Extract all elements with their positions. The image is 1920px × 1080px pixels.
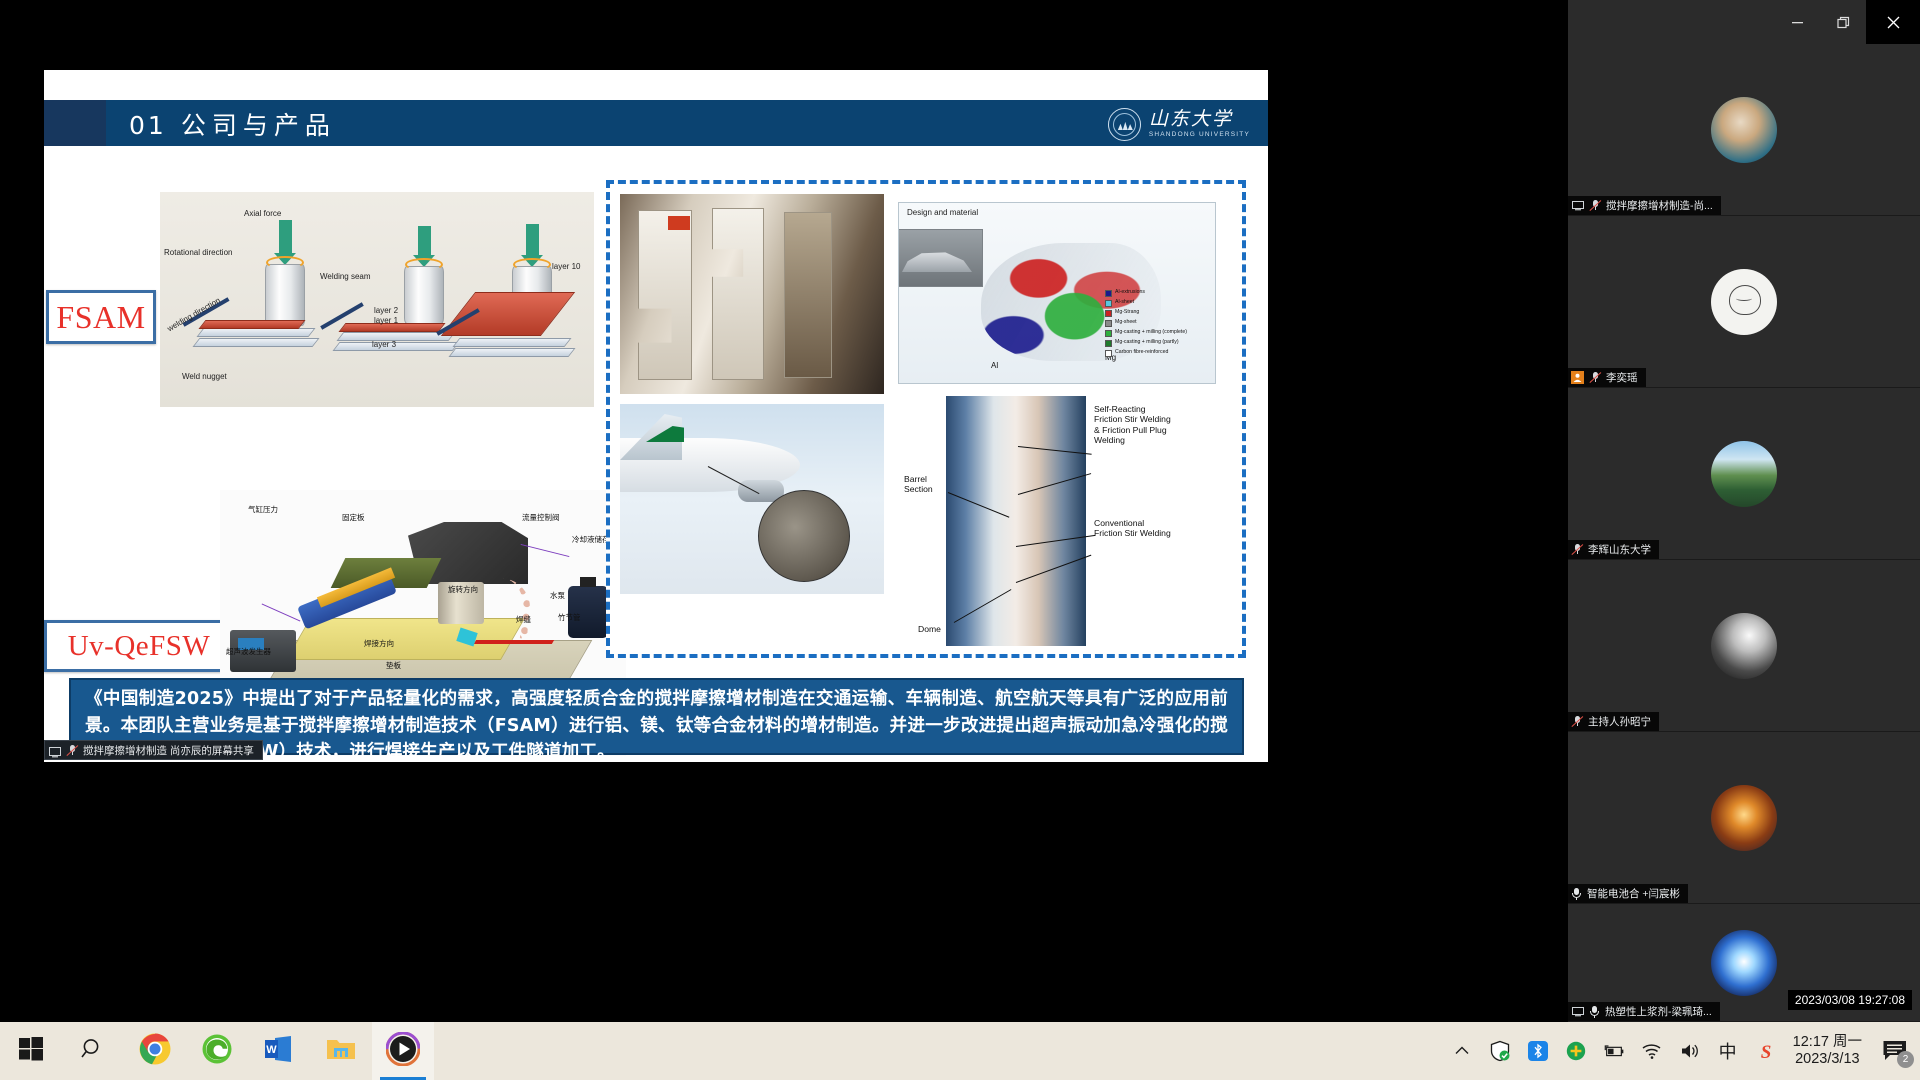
- share-bar-label: 搅拌摩擦增材制造 尚亦辰的屏幕共享: [83, 743, 254, 758]
- participant-nametag: 智能电池合 +闫宸彬: [1568, 884, 1688, 903]
- label-layer-2: layer 2: [374, 306, 398, 315]
- rocket-label-conventional: Conventional Friction Stir Welding: [1094, 518, 1171, 539]
- participant-tile[interactable]: 李辉山东大学: [1568, 388, 1920, 560]
- participant-nametag: 李奕瑶: [1568, 368, 1646, 387]
- fsam-badge: FSAM: [46, 290, 156, 344]
- label-layer-3: layer 3: [372, 340, 396, 349]
- participant-tile[interactable]: 李奕瑶: [1568, 216, 1920, 388]
- fsam-substrate-3: [448, 348, 575, 357]
- label-rotational-direction: Rotational direction: [164, 248, 232, 257]
- participant-tile[interactable]: 主持人孙昭宁: [1568, 560, 1920, 732]
- car-material-legend: Al-extrusions Al-sheet Mg-Strang Mg-shee…: [1105, 289, 1211, 359]
- label-layer-1: layer 1: [374, 316, 398, 325]
- legend-label: Al-sheet: [1115, 299, 1134, 306]
- rk-l7: Section: [904, 484, 933, 494]
- legend-label: Mg-sheet: [1115, 319, 1137, 326]
- edge-icon: [201, 1033, 233, 1070]
- bluetooth-icon[interactable]: [1527, 1040, 1549, 1062]
- legend-swatch: [1105, 320, 1112, 327]
- rocket-tank-diagram: Self-Reacting Friction Stir Welding & Fr…: [898, 396, 1216, 646]
- participant-name: 搅拌摩擦增材制造-尚...: [1606, 198, 1713, 213]
- explorer-button[interactable]: [310, 1022, 372, 1080]
- label-ultrasonic-generator: 超声波发生器: [226, 646, 271, 657]
- avatar: [1711, 97, 1777, 163]
- label-welding-seam: Welding seam: [320, 272, 371, 281]
- close-button[interactable]: [1866, 0, 1920, 44]
- chrome-icon: [138, 1032, 172, 1071]
- rk-l6: Barrel: [904, 474, 927, 484]
- volume-icon[interactable]: [1679, 1040, 1701, 1062]
- rk-l2: & Friction Pull Plug: [1094, 425, 1167, 435]
- show-hidden-icons-button[interactable]: [1451, 1040, 1473, 1062]
- fsam-badge-label: FSAM: [56, 299, 145, 336]
- notification-count: 2: [1897, 1051, 1914, 1068]
- university-seal-icon: [1108, 108, 1141, 141]
- taskbar-clock[interactable]: 12:17 周一 2023/3/13: [1793, 1034, 1862, 1068]
- rk-l0: Self-Reacting: [1094, 404, 1146, 414]
- screen-share-icon: [1571, 199, 1584, 212]
- restore-button[interactable]: [1820, 0, 1866, 44]
- media-player-button[interactable]: [372, 1022, 434, 1080]
- clock-date: 2023/3/13: [1793, 1051, 1862, 1068]
- rk-l5: Friction Stir Welding: [1094, 528, 1171, 538]
- legend-item: Al-extrusions: [1105, 289, 1211, 297]
- uv-weld-seam: [474, 640, 554, 644]
- legend-item: Carbon fibre-reinforced: [1105, 349, 1211, 357]
- participants-rail: 搅拌摩擦增材制造-尚... 李奕瑶 李辉山东大学: [1568, 0, 1920, 1022]
- label-axial-force: Axial force: [244, 209, 281, 218]
- microphone-muted-icon: [66, 744, 78, 757]
- screen-share-status-bar[interactable]: 搅拌摩擦增材制造 尚亦辰的屏幕共享: [44, 740, 263, 760]
- microphone-icon: [1571, 887, 1582, 900]
- rk-l3: Welding: [1094, 435, 1125, 445]
- label-water-pump: 水泵: [550, 590, 565, 601]
- window-controls: [1568, 0, 1920, 44]
- clock-time: 12:17 周一: [1793, 1034, 1862, 1051]
- battery-icon[interactable]: [1603, 1040, 1625, 1062]
- folder-icon: [325, 1035, 357, 1068]
- label-rotation-direction: 旋转方向: [448, 584, 478, 595]
- university-name-cn: 山东大学: [1149, 110, 1250, 129]
- weld-detail-callout: [758, 490, 850, 582]
- label-welding-direction: 焊接方向: [364, 638, 394, 649]
- participant-nametag: 主持人孙昭宁: [1568, 712, 1659, 731]
- svg-text:W: W: [266, 1044, 277, 1056]
- minimize-button[interactable]: [1774, 0, 1820, 44]
- chinese-ime-icon[interactable]: 中: [1717, 1040, 1739, 1062]
- rotation-ring-3: [513, 258, 551, 271]
- legend-item: Mg-casting + milling (complete): [1105, 329, 1211, 337]
- word-button[interactable]: W: [248, 1022, 310, 1080]
- aircraft-photo: [620, 404, 884, 594]
- legend-label: Mg-Strang: [1115, 309, 1139, 316]
- rk-l1: Friction Stir Welding: [1094, 414, 1171, 424]
- rocket-label-barrel: Barrel Section: [904, 474, 933, 495]
- screen-share-area: 01公司与产品 山东大学 SHANDONG UNIVERSITY FSAM Uv…: [0, 0, 1568, 1022]
- rk-l4: Conventional: [1094, 518, 1144, 528]
- fsam-base-plate-1: [196, 328, 315, 337]
- label-layer-10: layer 10: [552, 262, 580, 271]
- microphone-muted-icon: [1589, 199, 1601, 212]
- notification-center-button[interactable]: 2: [1878, 1036, 1912, 1066]
- update-icon[interactable]: [1565, 1040, 1587, 1062]
- avatar: [1711, 269, 1777, 335]
- label-weld-nugget: Weld nugget: [182, 372, 227, 381]
- legend-label: Mg-casting + milling (complete): [1115, 329, 1187, 336]
- university-name-en: SHANDONG UNIVERSITY: [1149, 132, 1250, 139]
- fsam-stack-3: [441, 292, 575, 336]
- rotation-ring-1: [266, 256, 304, 269]
- taskbar: W: [0, 1022, 1920, 1080]
- wifi-icon[interactable]: [1641, 1040, 1663, 1062]
- participant-name: 李奕瑶: [1606, 370, 1638, 385]
- section-number: 01: [129, 111, 167, 140]
- slide-header-accent: [44, 100, 106, 146]
- rocket-label-dome: Dome: [918, 624, 941, 634]
- legend-item: Mg-Strang: [1105, 309, 1211, 317]
- participant-tile[interactable]: 智能电池合 +闫宸彬: [1568, 732, 1920, 904]
- avatar: [1711, 930, 1777, 996]
- legend-swatch: [1105, 310, 1112, 317]
- label-cylinder-pressure: 气缸压力: [248, 504, 278, 515]
- label-fixed-plate: 固定板: [342, 512, 365, 523]
- start-button[interactable]: [0, 1022, 62, 1080]
- legend-item: Mg-casting + milling (partly): [1105, 339, 1211, 347]
- legend-label: Al-extrusions: [1115, 289, 1145, 296]
- participant-name: 李辉山东大学: [1588, 542, 1651, 557]
- legend-item: Mg-sheet: [1105, 319, 1211, 327]
- car-body-material-diagram: Design and material Al Mg Al-extrusions …: [898, 202, 1216, 384]
- extrusion-samples-photo: [620, 194, 884, 394]
- extrusion-profile-1: [638, 210, 692, 380]
- legend-swatch: [1105, 340, 1112, 347]
- label-bamboo-hose: 竹节管: [558, 612, 581, 623]
- rotation-ring-2: [405, 258, 443, 271]
- chrome-button[interactable]: [124, 1022, 186, 1080]
- recording-timestamp: 2023/03/08 19:27:08: [1788, 990, 1912, 1010]
- windows-icon: [18, 1036, 44, 1067]
- sogou-icon[interactable]: S: [1755, 1040, 1777, 1062]
- rocket-label-self-reacting: Self-Reacting Friction Stir Welding & Fr…: [1094, 404, 1171, 446]
- extrusion-label-tag: [668, 216, 690, 230]
- uvqefsw-badge: Uv-QeFSW: [44, 620, 234, 672]
- legend-swatch: [1105, 300, 1112, 307]
- screen-share-icon: [49, 745, 61, 756]
- legend-swatch: [1105, 330, 1112, 337]
- fsam-tool-1: [265, 264, 305, 326]
- participant-name: 主持人孙昭宁: [1588, 714, 1651, 729]
- uvqefsw-badge-label: Uv-QeFSW: [68, 630, 211, 663]
- label-flow-control-valve: 流量控制阀: [522, 512, 560, 523]
- legend-item: Al-sheet: [1105, 299, 1211, 307]
- application-image-collage: Design and material Al Mg Al-extrusions …: [606, 180, 1246, 658]
- microphone-muted-icon: [1589, 371, 1601, 384]
- fsam-substrate-1: [192, 338, 319, 347]
- legend-swatch: [1105, 290, 1112, 297]
- participant-nametag: 热塑性上浆剂-梁珮琦...: [1568, 1002, 1720, 1021]
- avatar: [1711, 441, 1777, 507]
- car-photo-inset: [898, 229, 983, 287]
- participant-name: 热塑性上浆剂-梁珮琦...: [1605, 1004, 1712, 1019]
- legend-label: Mg-casting + milling (partly): [1115, 339, 1179, 346]
- section-title: 公司与产品: [181, 111, 336, 140]
- search-button[interactable]: [62, 1022, 124, 1080]
- participant-status-badge: [1571, 371, 1584, 384]
- participant-tile[interactable]: 搅拌摩擦增材制造-尚...: [1568, 44, 1920, 216]
- fsam-base-plate-3: [452, 338, 571, 347]
- play-icon: [386, 1032, 420, 1071]
- screen-share-icon: [1571, 1005, 1584, 1018]
- avatar: [1711, 613, 1777, 679]
- microphone-muted-icon: [1571, 715, 1583, 728]
- avatar: [1711, 785, 1777, 851]
- edge-button[interactable]: [186, 1022, 248, 1080]
- participant-name: 智能电池合 +闫宸彬: [1587, 886, 1680, 901]
- extrusion-profile-2: [712, 208, 764, 380]
- label-backing-plate: 垫板: [386, 660, 401, 671]
- car-callout-al: Al: [991, 361, 998, 370]
- rocket-photo: [946, 396, 1086, 646]
- legend-label: Carbon fibre-reinforced: [1115, 349, 1168, 356]
- microphone-muted-icon: [1571, 543, 1583, 556]
- label-weld-seam: 焊缝: [516, 614, 531, 625]
- axial-force-arrow-2: [418, 226, 431, 256]
- fsam-layer-1: [198, 320, 305, 329]
- word-icon: W: [264, 1034, 294, 1069]
- participant-nametag: 李辉山东大学: [1568, 540, 1659, 559]
- axial-force-arrow-3: [526, 224, 539, 256]
- fsam-tool-2: [404, 266, 444, 324]
- participant-nametag: 搅拌摩擦增材制造-尚...: [1568, 196, 1721, 215]
- search-icon: [80, 1036, 106, 1067]
- fsam-process-diagram: Axial force Rotational direction welding…: [160, 192, 594, 407]
- university-logo: 山东大学 SHANDONG UNIVERSITY: [1108, 108, 1250, 141]
- car-diagram-title: Design and material: [907, 208, 978, 217]
- extrusion-profile-3: [784, 212, 832, 378]
- security-shield-icon[interactable]: [1489, 1040, 1511, 1062]
- svg-text:S: S: [1760, 1042, 1771, 1062]
- presentation-slide: 01公司与产品 山东大学 SHANDONG UNIVERSITY FSAM Uv…: [44, 70, 1268, 762]
- microphone-icon: [1589, 1005, 1600, 1018]
- axial-force-arrow: [279, 220, 292, 254]
- page-title: 01公司与产品: [129, 106, 336, 142]
- uv-generator-cable: [262, 604, 301, 622]
- legend-swatch: [1105, 350, 1112, 357]
